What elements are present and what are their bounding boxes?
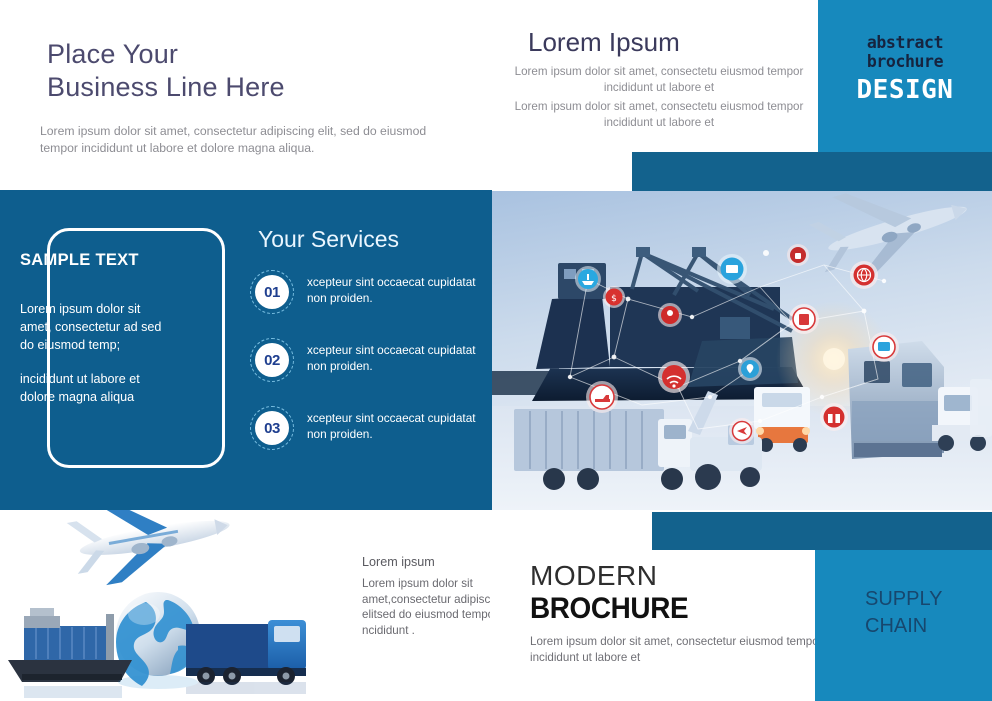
supply-chain-text-group: SUPPLY CHAIN	[865, 586, 992, 640]
service-item-02: 02 xcepteur sint occaecat cupidatat non …	[250, 338, 486, 390]
abstract-label: abstract	[818, 33, 992, 52]
service-number-badge: 02	[250, 338, 294, 382]
sample-text-title: SAMPLE TEXT	[20, 250, 170, 270]
node-train-icon	[869, 332, 899, 362]
business-line-title-line1: Place Your	[47, 39, 178, 69]
service-item-text: xcepteur sint occaecat cupidatat non pro…	[307, 410, 487, 442]
design-label: DESIGN	[818, 75, 992, 106]
service-item-text: xcepteur sint occaecat cupidatat non pro…	[307, 342, 487, 374]
brochure-title-bold: BROCHURE	[530, 592, 790, 626]
brochure-label: brochure	[818, 52, 992, 71]
modern-brochure-paragraph: Lorem ipsum dolor sit amet, consectetur …	[530, 634, 830, 666]
svg-text:$: $	[611, 294, 617, 304]
bottom-accent-bar	[652, 512, 992, 550]
lorem-paragraph-1: Lorem ipsum dolor sit amet, consectetu e…	[514, 64, 804, 96]
modern-title-light: MODERN	[530, 560, 810, 592]
service-item-text: xcepteur sint occaecat cupidatat non pro…	[307, 274, 487, 306]
business-line-body-text: Lorem ipsum dolor sit amet, consectetur …	[40, 123, 460, 157]
logistics-network-hero-image: $	[492, 191, 992, 510]
node-gift-icon	[820, 403, 848, 431]
top-middle-lorem-block: Lorem Ipsum Lorem ipsum dolor sit amet, …	[500, 0, 818, 152]
business-line-title: Place Your Business Line Here	[47, 38, 477, 104]
service-item-03: 03 xcepteur sint occaecat cupidatat non …	[250, 406, 486, 458]
service-number-label: 02	[255, 343, 289, 377]
transport-composition-image	[0, 510, 350, 701]
sample-text-paragraph-2: incididunt ut labore et dolore magna ali…	[20, 370, 172, 406]
top-accent-bar	[632, 152, 992, 191]
node-truck-icon	[586, 381, 618, 413]
logistics-hero-illustration: $	[492, 191, 992, 510]
node-airplane-icon	[729, 418, 755, 444]
abstract-brochure-text-group: abstract brochure DESIGN	[818, 33, 992, 106]
abstract-brochure-design-panel: abstract brochure DESIGN	[818, 0, 992, 152]
service-number-badge: 01	[250, 270, 294, 314]
node-money-icon: $	[603, 286, 625, 308]
service-number-badge: 03	[250, 406, 294, 450]
service-number-label: 03	[255, 411, 289, 445]
node-clipboard-icon	[789, 304, 819, 334]
service-item-01: 01 xcepteur sint occaecat cupidatat non …	[250, 270, 486, 322]
supply-label: SUPPLY	[865, 586, 992, 613]
transport-composition-illustration	[0, 510, 350, 701]
supply-chain-panel: SUPPLY CHAIN	[815, 550, 992, 701]
node-pin-red-icon	[658, 303, 682, 327]
node-lock-icon	[787, 244, 809, 266]
node-wifi-icon	[658, 361, 690, 393]
node-box-blue-icon	[717, 254, 747, 284]
top-left-intro-block: Place Your Business Line Here Lorem ipsu…	[0, 0, 500, 190]
your-services-heading: Your Services	[258, 226, 488, 253]
chain-label: CHAIN	[865, 613, 992, 640]
brochure-page: Place Your Business Line Here Lorem ipsu…	[0, 0, 992, 701]
sample-text-paragraph-1: Lorem ipsum dolor sit amet, consectetur …	[20, 300, 172, 354]
node-location-icon	[738, 357, 762, 381]
business-line-title-line2: Business Line Here	[47, 71, 477, 104]
node-ship-icon	[575, 266, 601, 292]
node-globe-icon	[850, 261, 878, 289]
lorem-paragraph-2: Lorem ipsum dolor sit amet, consectetu e…	[514, 99, 804, 131]
lorem-ipsum-heading: Lorem Ipsum	[500, 27, 818, 57]
service-number-label: 01	[255, 275, 289, 309]
